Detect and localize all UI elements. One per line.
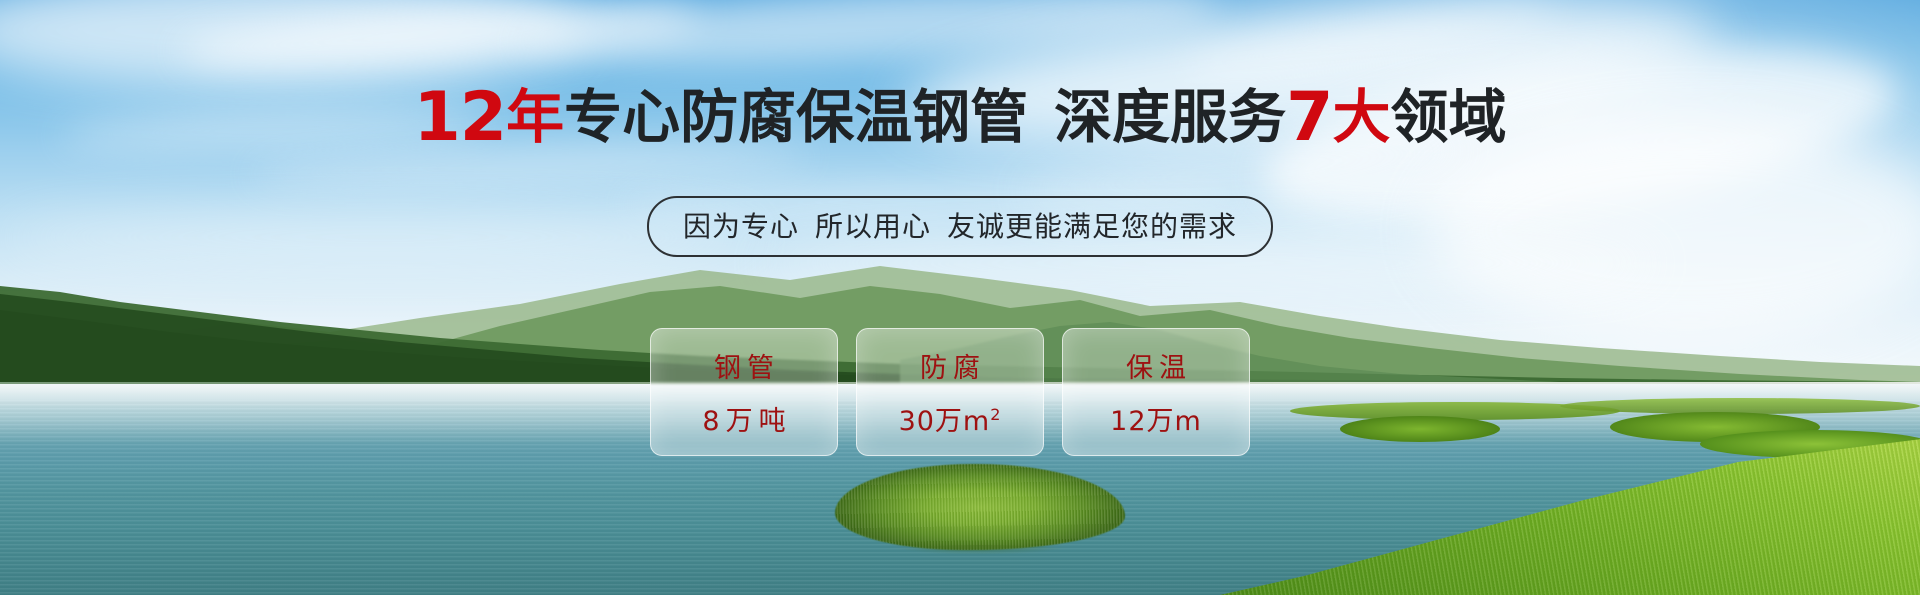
headline-years-unit: 年 — [506, 83, 564, 151]
stat-card-value: 30万m2 — [899, 399, 1002, 438]
headline-years-number: 12 — [413, 78, 506, 157]
headline-main-text: 专心防腐保温钢管 — [564, 83, 1028, 151]
stat-card-group: 钢管 8万吨 防腐 30万m2 保温 12万m — [650, 328, 1250, 456]
stat-card-value-superscript: 2 — [990, 405, 1001, 424]
stat-card-title: 保温 — [1120, 346, 1192, 385]
headline-service-text: 深度服务 — [1054, 83, 1286, 151]
stat-card-title: 钢管 — [708, 346, 780, 385]
stat-card-value: 8万吨 — [696, 399, 791, 438]
grass-island-reflection — [860, 545, 1100, 571]
headline: 12年专心防腐保温钢管深度服务7大领域 — [0, 84, 1920, 152]
stat-card-anticorrosion: 防腐 30万m2 — [856, 328, 1044, 456]
subtitle-part-3: 友诚更能满足您的需求 — [947, 210, 1237, 243]
headline-fields-unit: 大 — [1332, 83, 1390, 151]
stat-card-value-text: 8万吨 — [702, 406, 791, 437]
hero-banner: 12年专心防腐保温钢管深度服务7大领域 因为专心所以用心友诚更能满足您的需求 钢… — [0, 0, 1920, 595]
stat-card-value-text: 12万m — [1110, 406, 1202, 437]
stat-card-steel-pipe: 钢管 8万吨 — [650, 328, 838, 456]
marsh-patch — [1340, 416, 1500, 442]
headline-fields-text: 领域 — [1391, 83, 1507, 151]
stat-card-value: 12万m — [1110, 399, 1202, 438]
subtitle-part-1: 因为专心 — [683, 210, 799, 243]
subtitle-part-2: 所以用心 — [815, 210, 931, 243]
subtitle-container: 因为专心所以用心友诚更能满足您的需求 — [0, 196, 1920, 257]
stat-card-value-text: 30万m — [899, 406, 991, 437]
stat-card-insulation: 保温 12万m — [1062, 328, 1250, 456]
headline-fields-number: 7 — [1286, 78, 1332, 157]
stat-card-title: 防腐 — [914, 346, 986, 385]
subtitle-pill: 因为专心所以用心友诚更能满足您的需求 — [647, 196, 1273, 257]
